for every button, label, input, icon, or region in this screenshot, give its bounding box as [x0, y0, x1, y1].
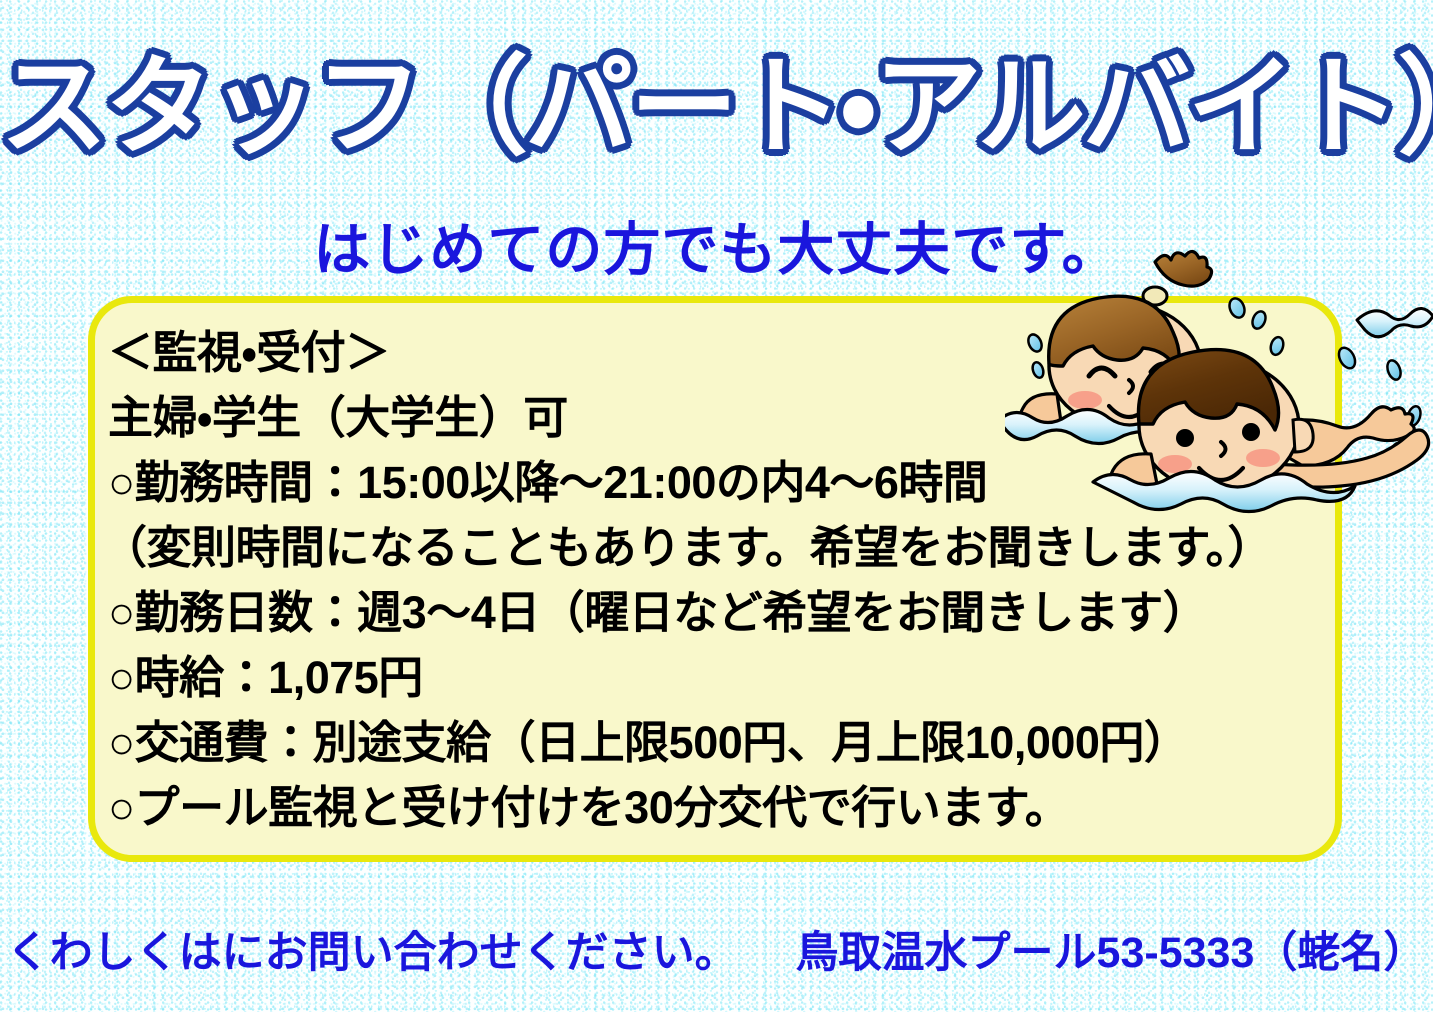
footer-prompt-text: くわしくはにお問い合わせください。: [7, 929, 738, 977]
info-line-work-hours-note: （変則時間になることもあります。希望をお聞きします。）: [102, 515, 1368, 580]
footer-contact: くわしくはにお問い合わせください。 鳥取温水プール53-5333（蛯名）: [0, 918, 1433, 980]
info-line-role-heading: ＜監視・受付＞: [108, 320, 1368, 385]
info-line-work-hours: ○勤務時間：15:00以降～21:00の内4～6時間: [108, 450, 1368, 515]
info-line-duty-rotation: ○プール監視と受け付けを30分交代で行います。: [108, 775, 1368, 840]
page-title: スタッフ（パート・アルバイト）募集中: [0, 52, 1433, 162]
poster-root: スタッフ（パート・アルバイト）募集中 はじめての方でも大丈夫です。 ＜監視・受付…: [0, 0, 1433, 1012]
info-line-work-days: ○勤務日数：週3～4日（曜日など希望をお聞きします）: [108, 580, 1368, 645]
info-line-transport-allowance: ○交通費：別途支給（日上限500円、月上限10,000円）: [108, 710, 1368, 775]
page-subtitle: はじめての方でも大丈夫です。: [0, 204, 1433, 286]
info-line-hourly-wage: ○時給：1,075円: [108, 645, 1368, 710]
info-panel-text-block: ＜監視・受付＞ 主婦・学生（大学生）可 ○勤務時間：15:00以降～21:00の…: [108, 320, 1368, 840]
footer-contact-text: 鳥取温水プール53-5333（蛯名）: [796, 929, 1427, 977]
info-line-eligibility: 主婦・学生（大学生）可: [108, 385, 1368, 450]
